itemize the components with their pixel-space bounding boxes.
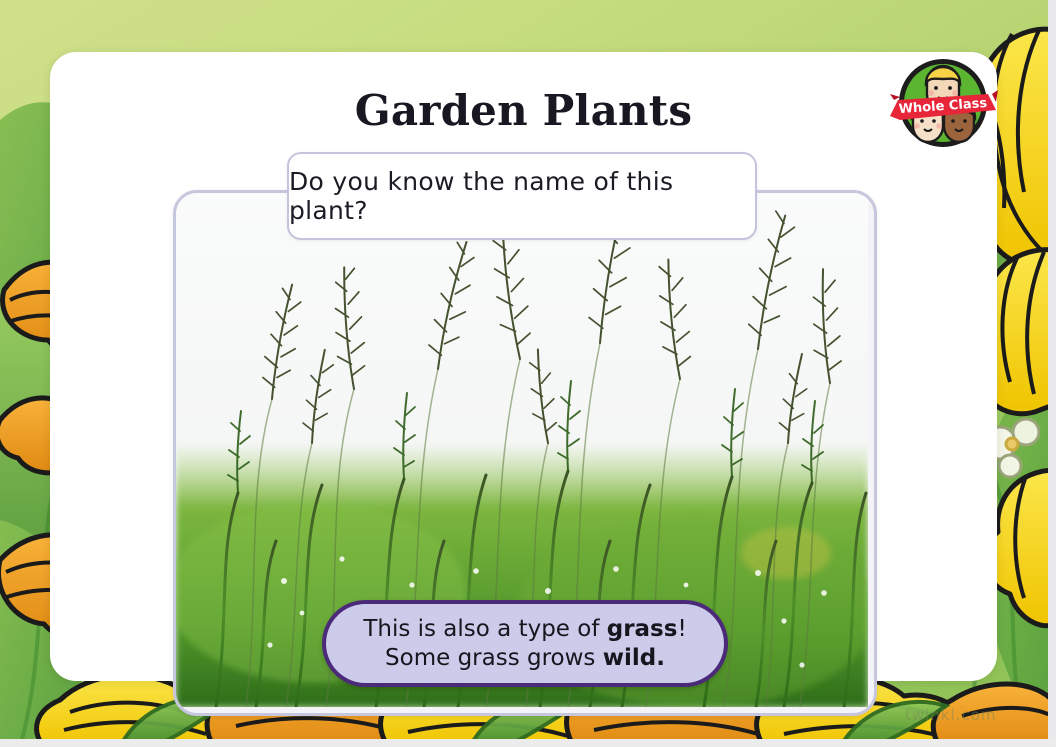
right-edge-strip [1048,0,1056,747]
watermark: twinkl.com [905,706,996,724]
bottom-edge-strip [0,739,1056,747]
slide-stage: Garden Plants [0,0,1056,747]
page-title: Garden Plants [50,86,997,135]
answer-line1-after: ! [677,616,686,642]
slide-card: Garden Plants [50,52,997,681]
question-bubble: Do you know the name of this plant? [287,152,757,240]
answer-line-2: Some grass grows wild. [385,644,665,672]
answer-line1-before: This is also a type of [363,616,606,642]
answer-line1-bold: grass [607,616,678,642]
whole-class-badge-icon: Whole Class [888,50,998,160]
answer-line2-before: Some grass grows [385,645,603,671]
answer-line2-bold: wild. [603,645,665,671]
question-text: Do you know the name of this plant? [289,167,755,225]
answer-bubble: This is also a type of grass! Some grass… [322,600,728,687]
answer-line-1: This is also a type of grass! [363,615,686,643]
whole-class-badge: Whole Class Whole Class [888,50,998,160]
